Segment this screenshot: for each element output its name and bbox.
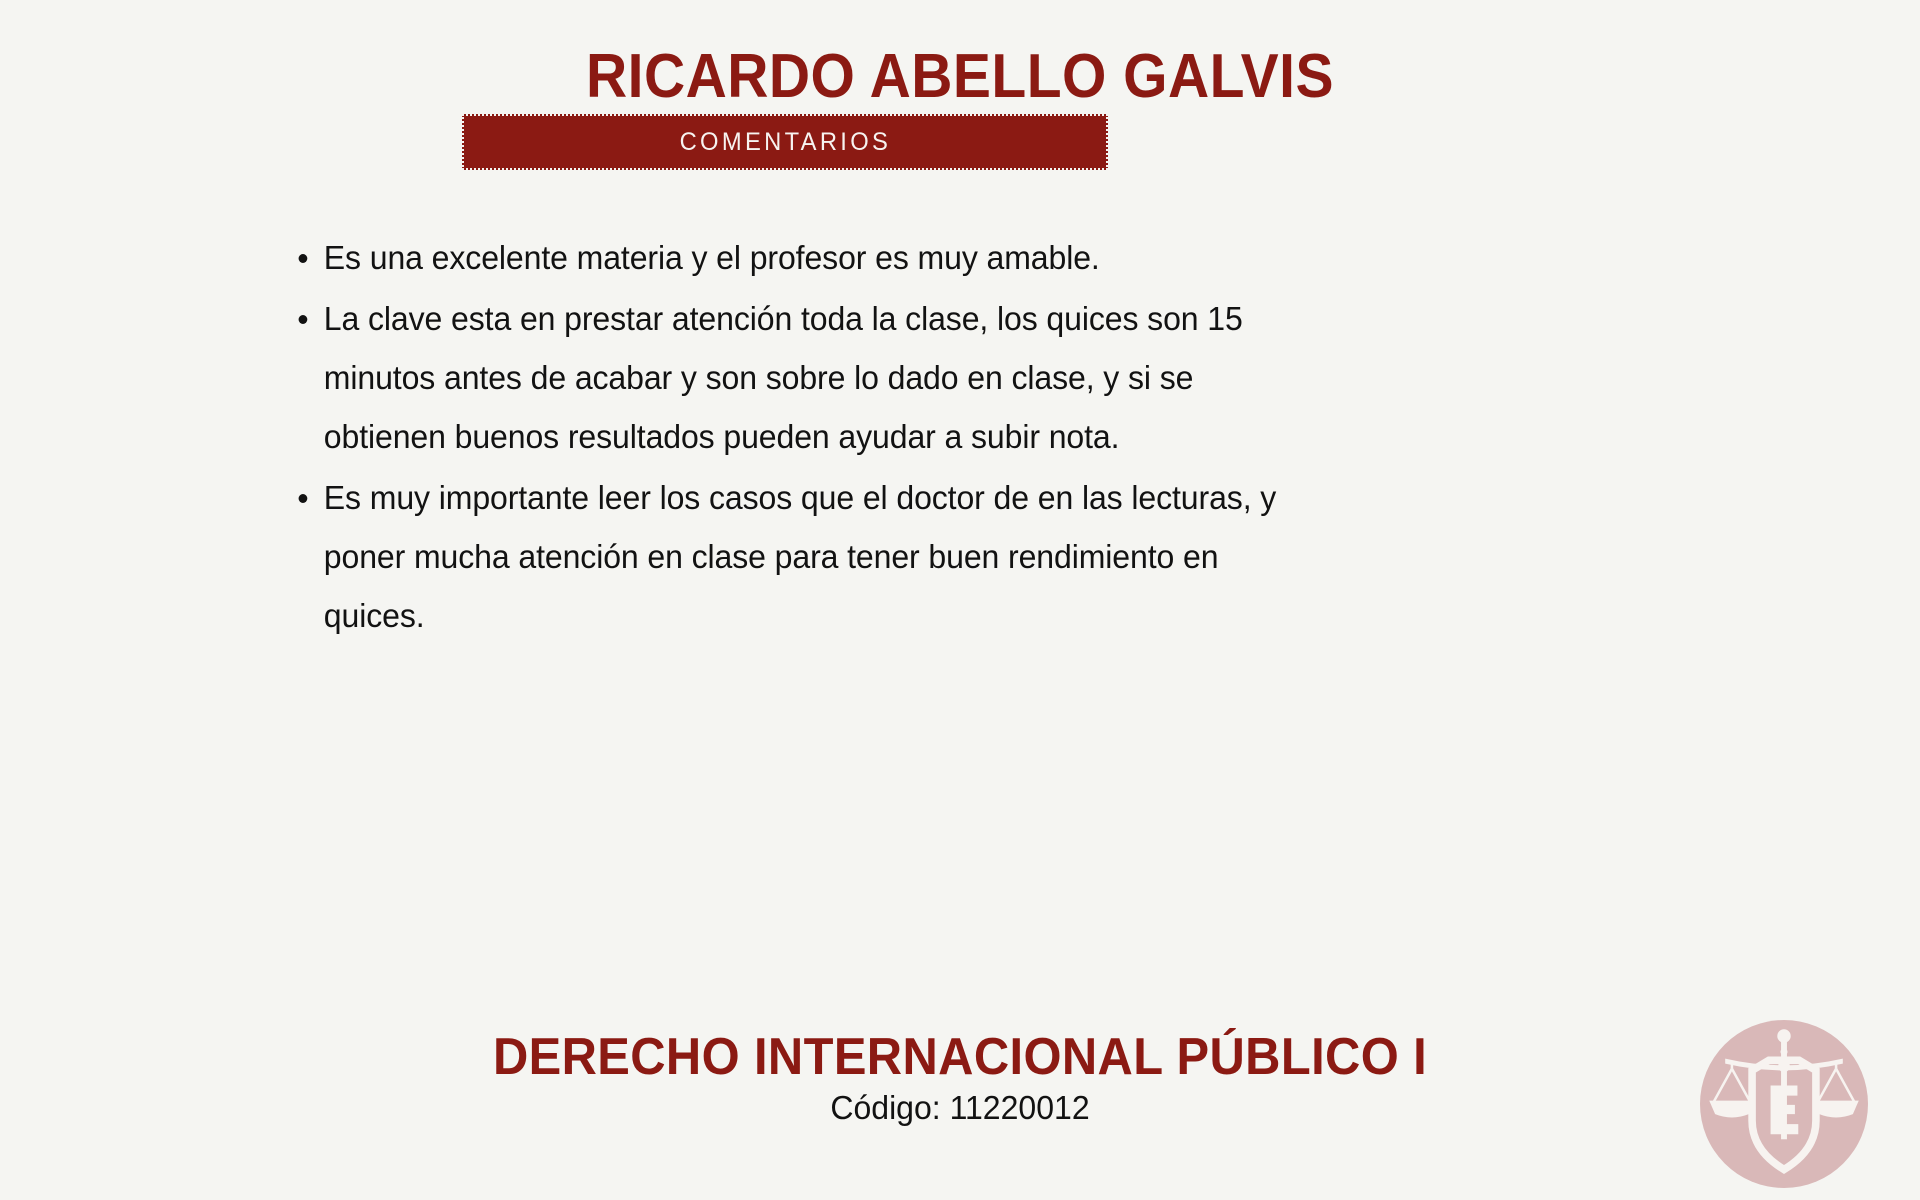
comment-text: Es una excelente materia y el profesor e… [324, 239, 1100, 276]
course-code: Código: 11220012 [29, 1088, 1891, 1128]
list-item: Es muy importante leer los casos que el … [285, 468, 1284, 645]
header: RICARDO ABELLO GALVIS COMENTARIOS [0, 0, 1920, 215]
page-title: RICARDO ABELLO GALVIS [77, 42, 1843, 112]
comment-text: Es muy importante leer los casos que el … [324, 479, 1276, 634]
list-item: La clave esta en prestar atención toda l… [285, 289, 1284, 466]
course-title: DERECHO INTERNACIONAL PÚBLICO I [58, 1028, 1863, 1086]
list-item: Es una excelente materia y el profesor e… [285, 228, 1284, 287]
comments-section: Es una excelente materia y el profesor e… [285, 228, 1645, 647]
slide-canvas: RICARDO ABELLO GALVIS COMENTARIOS Es una… [0, 0, 1920, 1200]
comment-text: La clave esta en prestar atención toda l… [324, 300, 1243, 455]
comentarios-banner: COMENTARIOS [462, 114, 1108, 170]
bullet-dot-icon [299, 315, 308, 324]
scales-of-justice-shield-logo-icon [1700, 1020, 1868, 1188]
bullet-dot-icon [299, 494, 308, 503]
bullet-dot-icon [299, 254, 308, 263]
footer: DERECHO INTERNACIONAL PÚBLICO I Código: … [0, 970, 1920, 1200]
comentarios-banner-label: COMENTARIOS [679, 128, 891, 157]
comments-list: Es una excelente materia y el profesor e… [285, 228, 1645, 645]
